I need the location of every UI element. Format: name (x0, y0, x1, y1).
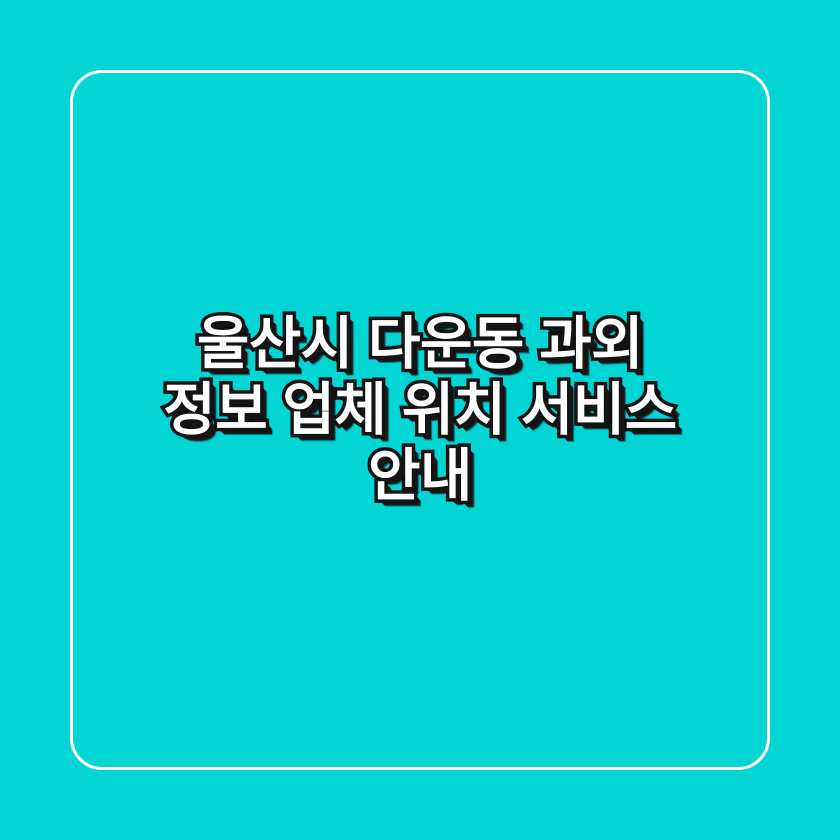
headline-line-3: 안내 (90, 443, 750, 509)
page-title: 울산시 다운동 과외 정보 업체 위치 서비스 안내 (90, 311, 750, 509)
poster-canvas: 울산시 다운동 과외 정보 업체 위치 서비스 안내 (0, 0, 840, 840)
headline-container: 울산시 다운동 과외 정보 업체 위치 서비스 안내 (0, 0, 840, 840)
headline-line-2: 정보 업체 위치 서비스 (90, 377, 750, 443)
headline-line-1: 울산시 다운동 과외 (90, 311, 750, 377)
